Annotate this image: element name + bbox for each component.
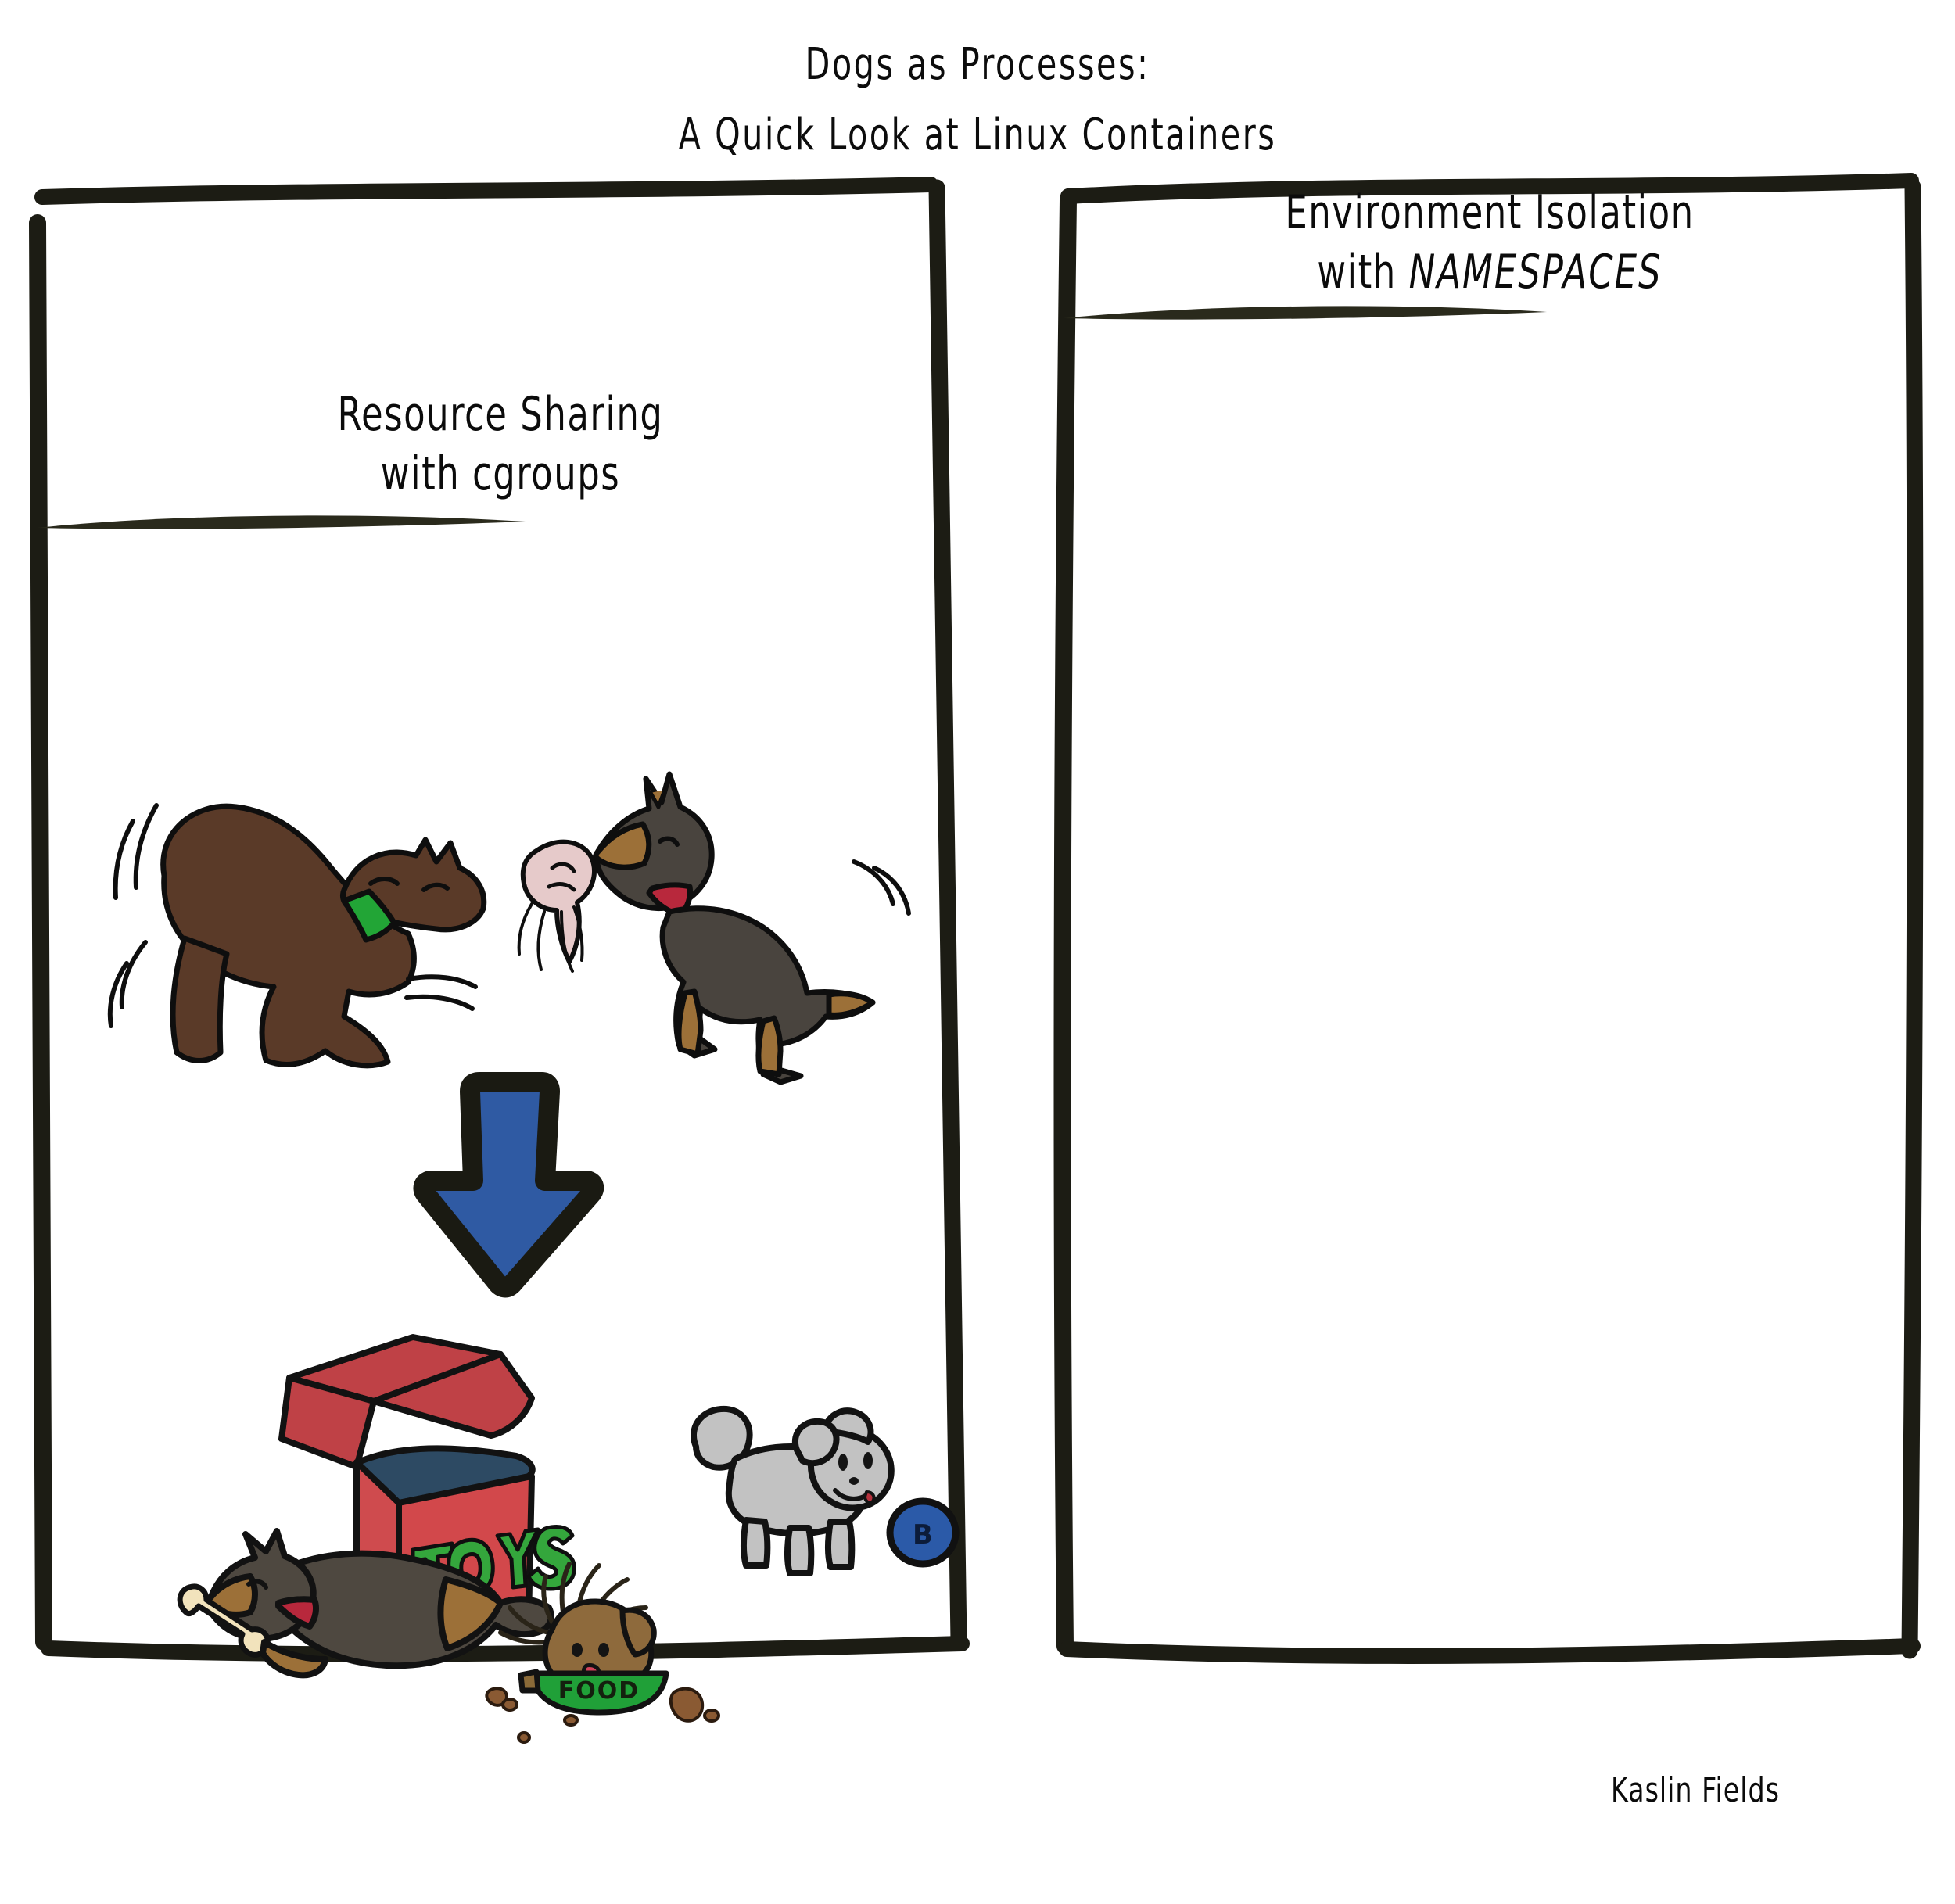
heading-namespaces: NAMESPACES: [1409, 245, 1663, 299]
arrow-down-blue: [418, 1071, 598, 1306]
scene-shared-resources: FOOD: [164, 1306, 977, 1775]
blue-ball-label: B: [913, 1519, 933, 1551]
panel-left-heading: Resource Sharing with cgroups: [31, 387, 970, 534]
arrow-blue-shape: [423, 1082, 594, 1288]
panel-right-frame: [1056, 176, 1924, 1669]
panel-left-heading-line1: Resource Sharing: [31, 387, 970, 442]
pink-rope-toy: [523, 842, 594, 962]
panel-left-heading-underline: [31, 507, 532, 534]
panel-right-heading-line1: Environment Isolation: [1056, 185, 1924, 240]
title-line-1: Dogs as Processes:: [0, 39, 1955, 88]
panel-left-heading-line2: with cgroups: [31, 446, 970, 501]
panel-right-heading-line2: with NAMESPACES: [1056, 245, 1924, 299]
panel-right-heading-underline: [1056, 299, 1556, 325]
comic-canvas: Dogs as Processes: A Quick Look at Linux…: [0, 0, 1955, 1838]
title-line-2: A Quick Look at Linux Containers: [0, 109, 1955, 159]
food-bowl-label: FOOD: [558, 1677, 640, 1705]
svg-text:FOOD: FOOD: [558, 1677, 640, 1705]
heading-prefix: with: [1317, 245, 1408, 299]
blue-ball: B: [890, 1501, 956, 1564]
page-title: Dogs as Processes: A Quick Look at Linux…: [0, 39, 1955, 150]
artist-signature: Kaslin Fields: [1611, 1770, 1780, 1810]
scene-tug-of-war: [109, 758, 915, 1103]
panel-environment-isolation: Environment Isolation with NAMESPACES: [1056, 176, 1924, 1669]
panel-right-heading: Environment Isolation with NAMESPACES: [1056, 185, 1924, 325]
gray-poodle: [694, 1409, 891, 1573]
panel-resource-sharing: Resource Sharing with cgroups: [31, 180, 970, 1666]
